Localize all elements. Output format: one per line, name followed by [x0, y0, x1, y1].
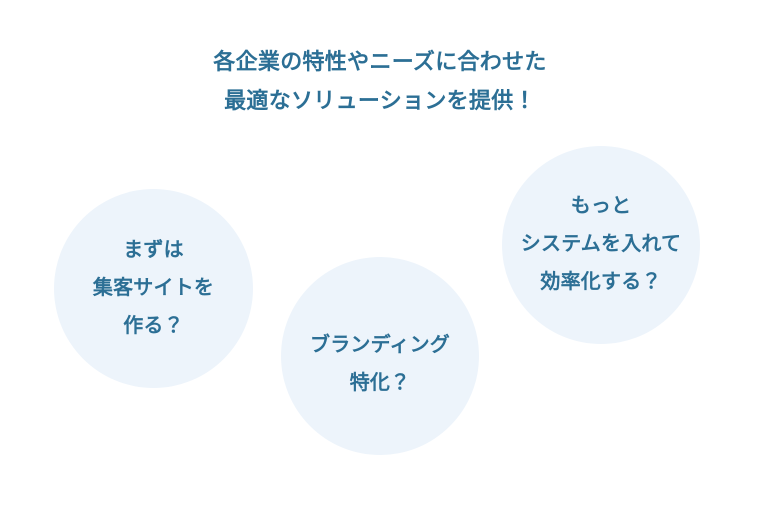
option-bubble-system-efficiency-text: もっと システムを入れて 効率化する？	[521, 187, 681, 301]
bubble-1-line-2: 集客サイトを	[93, 269, 214, 307]
option-bubble-system-efficiency[interactable]: もっと システムを入れて 効率化する？	[502, 146, 700, 344]
page-title-line-1: 各企業の特性やニーズに合わせた	[0, 42, 760, 81]
page-title-line-2: 最適なソリューションを提供！	[0, 81, 760, 120]
bubble-2-line-2: 特化？	[310, 364, 450, 402]
bubble-2-line-1: ブランディング	[310, 326, 450, 364]
option-bubble-branding[interactable]: ブランディング 特化？	[281, 257, 479, 455]
slide-canvas: 各企業の特性やニーズに合わせた 最適なソリューションを提供！ まずは 集客サイト…	[0, 0, 760, 508]
option-bubble-attract-site[interactable]: まずは 集客サイトを 作る？	[54, 189, 253, 388]
option-bubble-branding-text: ブランディング 特化？	[310, 326, 450, 402]
bubble-1-line-3: 作る？	[93, 307, 214, 345]
bubble-3-line-2: システムを入れて	[521, 225, 681, 263]
bubble-3-line-3: 効率化する？	[521, 263, 681, 301]
bubble-1-line-1: まずは	[93, 231, 214, 269]
option-bubble-attract-site-text: まずは 集客サイトを 作る？	[93, 231, 214, 345]
bubble-3-line-1: もっと	[521, 187, 681, 225]
page-title: 各企業の特性やニーズに合わせた 最適なソリューションを提供！	[0, 42, 760, 120]
